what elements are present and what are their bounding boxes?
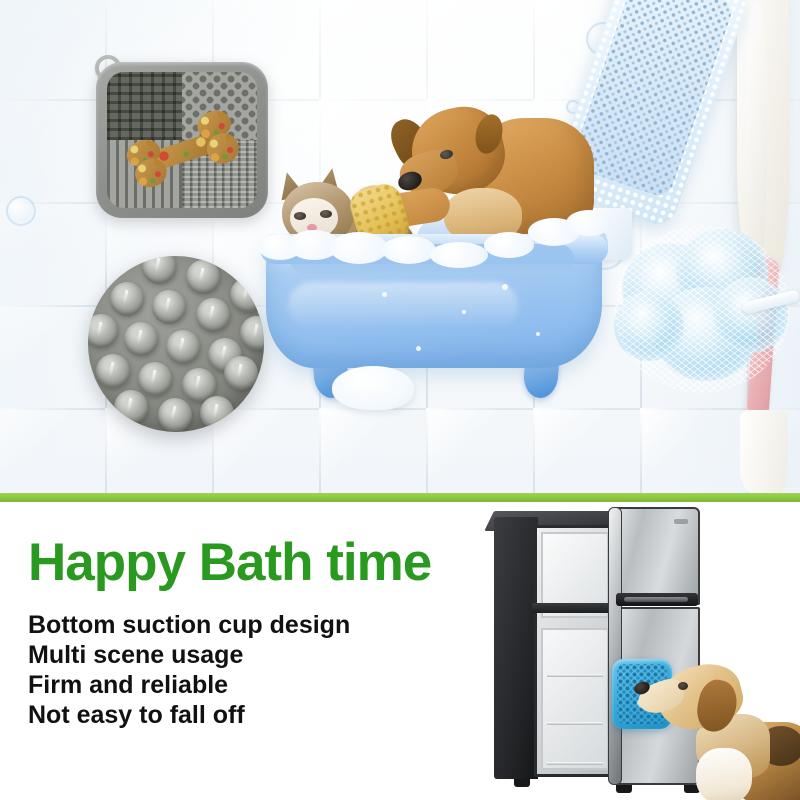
fridge-brand-logo	[674, 519, 688, 524]
fridge-shelf	[547, 722, 603, 725]
suction-cup	[88, 314, 118, 348]
feature-item: Not easy to fall off	[28, 700, 350, 730]
feature-item: Firm and reliable	[28, 670, 350, 700]
suction-cup	[200, 396, 234, 430]
foam-suds	[484, 232, 534, 258]
suction-cup	[142, 256, 176, 284]
suction-cup-closeup	[88, 256, 264, 432]
suction-cup	[186, 260, 220, 294]
fridge-foot	[616, 785, 632, 793]
feature-item: Multi scene usage	[28, 640, 350, 670]
foam-suds	[566, 210, 612, 236]
product-marketing-image: Happy Bath time Bottom suction cup desig…	[0, 0, 800, 800]
beagle-eye	[678, 682, 688, 690]
suction-cup	[196, 298, 230, 332]
fridge-shelf	[547, 762, 603, 765]
feature-item: Bottom suction cup design	[28, 610, 350, 640]
suction-cup	[114, 390, 148, 424]
fridge-hinge-column	[608, 507, 622, 785]
green-divider	[0, 493, 800, 502]
suction-cup	[230, 278, 264, 312]
suction-cup	[166, 330, 200, 364]
fridge-door-handle-inner	[624, 597, 688, 602]
cat-eye	[294, 212, 306, 220]
fridge-interior	[534, 525, 616, 777]
fridge-foot	[514, 779, 530, 787]
fridge-side-panel	[494, 517, 538, 779]
foam-suds	[382, 236, 436, 264]
water-sparkle	[462, 310, 466, 314]
suction-cup	[158, 398, 192, 432]
suction-cup	[138, 362, 172, 396]
suction-cup	[110, 282, 144, 316]
foam-suds	[430, 242, 488, 268]
water-sparkle	[536, 332, 540, 336]
cat-eye	[320, 210, 332, 218]
suction-cup	[96, 354, 130, 388]
fridge-divider-bar	[532, 603, 618, 613]
water-sparkle	[382, 292, 387, 297]
soap-bubble-icon	[6, 196, 36, 226]
top-bathroom-scene	[0, 0, 800, 493]
foam-suds	[330, 232, 388, 264]
bathtub	[266, 196, 602, 408]
water-sparkle	[416, 346, 421, 351]
suction-cup	[224, 356, 258, 390]
foam-pile	[332, 366, 414, 410]
page-title: Happy Bath time	[28, 532, 431, 593]
bathtub-highlight	[288, 282, 518, 330]
fridge-shelf	[547, 674, 603, 677]
suction-cup	[124, 322, 158, 356]
beagle-dog	[636, 652, 800, 800]
hanging-towel-lower	[740, 410, 788, 493]
water-sparkle	[502, 284, 508, 290]
feature-list: Bottom suction cup design Multi scene us…	[28, 610, 350, 730]
bottom-feature-section: Happy Bath time Bottom suction cup desig…	[0, 502, 800, 800]
suction-cup	[240, 316, 264, 350]
suction-cup	[152, 290, 186, 324]
beagle-chest	[696, 748, 752, 800]
fridge-compartment	[541, 628, 609, 770]
